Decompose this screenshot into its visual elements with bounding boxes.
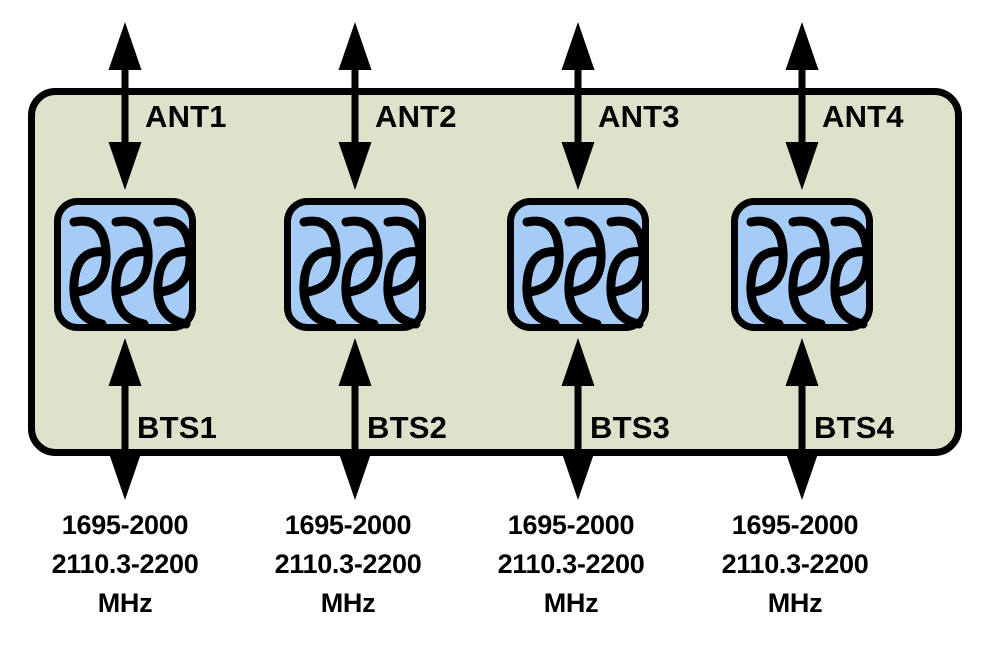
bts-label-4: BTS4: [814, 410, 895, 445]
frequency-line-4-3: MHz: [768, 588, 823, 618]
frequency-label-3: 1695-2000 2110.3-2200 MHz: [498, 510, 645, 618]
frequency-line-3-2: 2110.3-2200: [498, 549, 645, 579]
frequency-line-3-3: MHz: [544, 588, 599, 618]
frequency-line-1-3: MHz: [98, 588, 153, 618]
frequency-label-4: 1695-2000 2110.3-2200 MHz: [722, 510, 869, 618]
antenna-label-3: ANT3: [598, 99, 680, 134]
filter-module-1: [58, 202, 193, 328]
antenna-label-2: ANT2: [375, 99, 457, 134]
antenna-label-4: ANT4: [822, 99, 904, 134]
frequency-line-4-1: 1695-2000: [732, 510, 858, 540]
frequency-label-1: 1695-2000 2110.3-2200 MHz: [52, 510, 199, 618]
antenna-label-1: ANT1: [145, 99, 227, 134]
filter-module-2: [288, 202, 423, 328]
bts-label-3: BTS3: [590, 410, 670, 445]
filter-module-4: [735, 202, 870, 328]
frequency-line-2-3: MHz: [321, 588, 376, 618]
frequency-line-1-2: 2110.3-2200: [52, 549, 199, 579]
frequency-label-2: 1695-2000 2110.3-2200 MHz: [275, 510, 422, 618]
frequency-line-2-2: 2110.3-2200: [275, 549, 422, 579]
bts-label-1: BTS1: [137, 410, 217, 445]
frequency-line-1-1: 1695-2000: [62, 510, 188, 540]
frequency-line-4-2: 2110.3-2200: [722, 549, 869, 579]
filter-module-3: [511, 202, 646, 328]
frequency-line-3-1: 1695-2000: [508, 510, 634, 540]
diagram-canvas: ANT1 BTS1 1695-2000: [0, 0, 994, 646]
bts-label-2: BTS2: [367, 410, 447, 445]
frequency-line-2-1: 1695-2000: [285, 510, 411, 540]
diagram-root: ANT1 BTS1 1695-2000: [0, 0, 994, 646]
